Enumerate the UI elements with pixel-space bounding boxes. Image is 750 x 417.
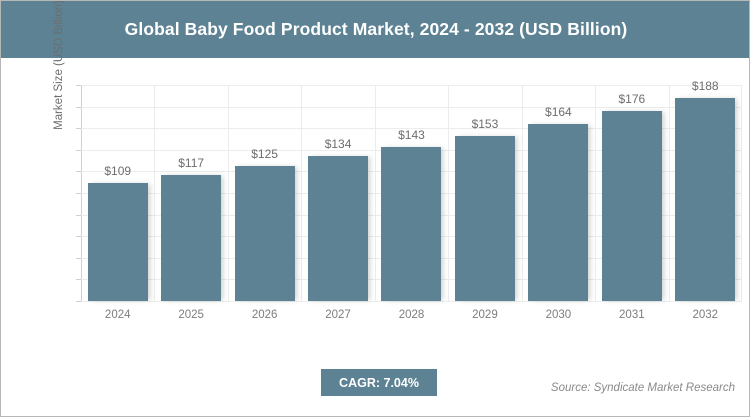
bar-value-label: $134	[325, 137, 352, 151]
page-title: Global Baby Food Product Market, 2024 - …	[125, 19, 628, 40]
x-tick-label: 2032	[665, 309, 745, 321]
bar-group: $143	[375, 85, 448, 301]
x-tick-label: 2030	[518, 309, 598, 321]
y-tick-mark	[76, 301, 81, 302]
bar-group: $117	[154, 85, 227, 301]
x-tick-label: 2031	[592, 309, 672, 321]
y-axis-title: Market Size (USD Billion)	[53, 0, 65, 175]
bar-value-label: $125	[251, 147, 278, 161]
bar[interactable]	[235, 166, 295, 301]
x-tick-label: 2025	[151, 309, 231, 321]
x-tick-label: 2029	[445, 309, 525, 321]
x-tick-label: 2026	[225, 309, 305, 321]
x-tick-label: 2027	[298, 309, 378, 321]
bar[interactable]	[528, 124, 588, 301]
bar[interactable]	[455, 136, 515, 301]
x-tick-label: 2024	[78, 309, 158, 321]
bar[interactable]	[161, 175, 221, 301]
bar-value-label: $164	[545, 105, 572, 119]
bar[interactable]	[381, 147, 441, 301]
bar-group: $125	[228, 85, 301, 301]
bar-value-label: $153	[472, 117, 499, 131]
bar-group: $176	[595, 85, 668, 301]
bar[interactable]	[88, 183, 148, 301]
chart-page: Global Baby Food Product Market, 2024 - …	[0, 0, 750, 417]
bar-value-label: $188	[692, 79, 719, 93]
bar-group: $153	[448, 85, 521, 301]
bar-value-label: $176	[618, 92, 645, 106]
bar-group: $164	[522, 85, 595, 301]
bar[interactable]	[675, 98, 735, 301]
cagr-badge: CAGR: 7.04%	[321, 369, 437, 396]
bar-group: $109	[81, 85, 154, 301]
gridline-horizontal	[81, 301, 742, 302]
bar-value-label: $117	[178, 156, 204, 170]
chart-header: Global Baby Food Product Market, 2024 - …	[1, 1, 750, 58]
x-tick-label: 2028	[372, 309, 452, 321]
bar-value-label: $109	[104, 164, 131, 178]
source-note: Source: Syndicate Market Research	[551, 382, 735, 394]
bar-group: $134	[301, 85, 374, 301]
bar-value-label: $143	[398, 128, 425, 142]
plot-area: $0$20$40$60$80$100$120$140$160$180$200 $…	[81, 85, 742, 301]
bar[interactable]	[602, 111, 662, 301]
bar-group: $188	[669, 85, 742, 301]
bar[interactable]	[308, 156, 368, 301]
